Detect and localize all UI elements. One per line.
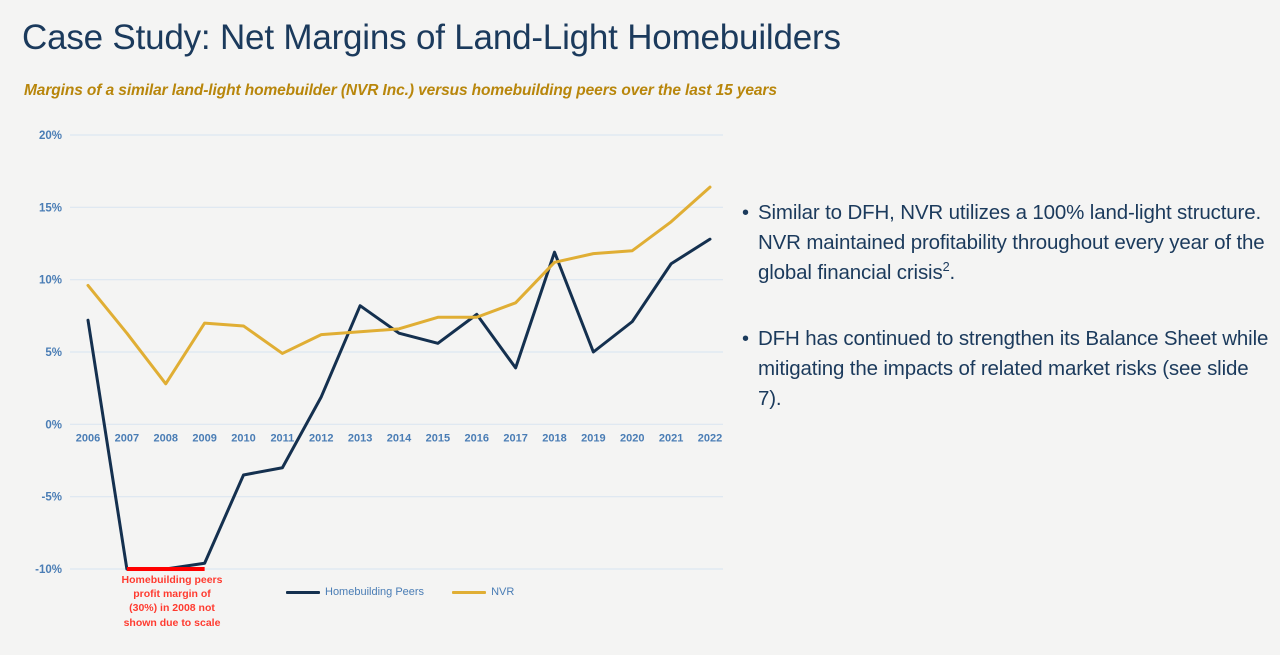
page-subtitle: Margins of a similar land-light homebuil… [24,82,777,100]
x-axis-tick-label: 2015 [426,432,450,444]
y-axis-tick-label: 0% [45,419,62,431]
y-axis-tick-label: 20% [39,130,62,142]
x-axis-tick-label: 2021 [659,432,683,444]
bullet-marker-icon: • [742,198,758,228]
bullet-2-main: DFH has continued to strengthen its Bala… [758,327,1268,410]
bullet-marker-icon: • [742,324,758,354]
x-axis-tick-label: 2017 [503,432,527,444]
scale-note-line-3: (30%) in 2008 not [116,601,228,615]
chart-series-lines [88,187,710,569]
x-axis-tick-label: 2009 [192,432,216,444]
y-axis-tick-label: -5% [42,492,62,504]
y-axis-tick-label: 5% [45,347,62,359]
x-axis-tick-label: 2014 [387,432,412,444]
bullet-panel: • Similar to DFH, NVR utilizes a 100% la… [742,198,1270,450]
x-axis-tick-label: 2010 [231,432,255,444]
x-axis-tick-label: 2020 [620,432,644,444]
page-title: Case Study: Net Margins of Land-Light Ho… [22,18,841,58]
bullet-text-1: Similar to DFH, NVR utilizes a 100% land… [758,198,1270,288]
scale-note-annotation: Homebuilding peers profit margin of (30%… [116,573,228,630]
chart-gridlines [70,135,723,569]
bullet-1-main: Similar to DFH, NVR utilizes a 100% land… [758,201,1265,284]
scale-note-line-4: shown due to scale [116,616,228,630]
series-line-homebuilding-peers [88,239,710,569]
bullet-1-tail: . [949,261,955,284]
legend-swatch-nvr [452,591,486,594]
bullet-item-2: • DFH has continued to strengthen its Ba… [742,324,1270,414]
x-axis-tick-label: 2008 [154,432,178,444]
chart-x-axis-labels: 2006200720082009201020112012201320142015… [76,432,722,444]
bullet-item-1: • Similar to DFH, NVR utilizes a 100% la… [742,198,1270,288]
legend-label-nvr: NVR [491,586,514,598]
legend-item-peers[interactable]: Homebuilding Peers [286,586,424,598]
x-axis-tick-label: 2006 [76,432,100,444]
x-axis-tick-label: 2011 [270,432,294,444]
x-axis-tick-label: 2018 [542,432,566,444]
legend-swatch-peers [286,591,320,594]
chart-canvas: -10%-5%0%5%10%15%20% 2006200720082009201… [0,118,740,655]
line-chart: -10%-5%0%5%10%15%20% 2006200720082009201… [0,118,740,655]
scale-note-line-2: profit margin of [116,587,228,601]
chart-y-axis-labels: -10%-5%0%5%10%15%20% [35,130,62,576]
x-axis-tick-label: 2013 [348,432,372,444]
y-axis-tick-label: 10% [39,275,62,287]
series-line-nvr [88,187,710,384]
x-axis-tick-label: 2012 [309,432,333,444]
legend-item-nvr[interactable]: NVR [452,586,514,598]
y-axis-tick-label: 15% [39,202,62,214]
chart-legend: Homebuilding Peers NVR [286,586,514,598]
scale-note-line-1: Homebuilding peers [116,573,228,587]
y-axis-tick-label: -10% [35,564,62,576]
bullet-text-2: DFH has continued to strengthen its Bala… [758,324,1270,414]
x-axis-tick-label: 2016 [465,432,489,444]
x-axis-tick-label: 2007 [115,432,139,444]
legend-label-peers: Homebuilding Peers [325,586,424,598]
x-axis-tick-label: 2022 [698,432,722,444]
x-axis-tick-label: 2019 [581,432,605,444]
